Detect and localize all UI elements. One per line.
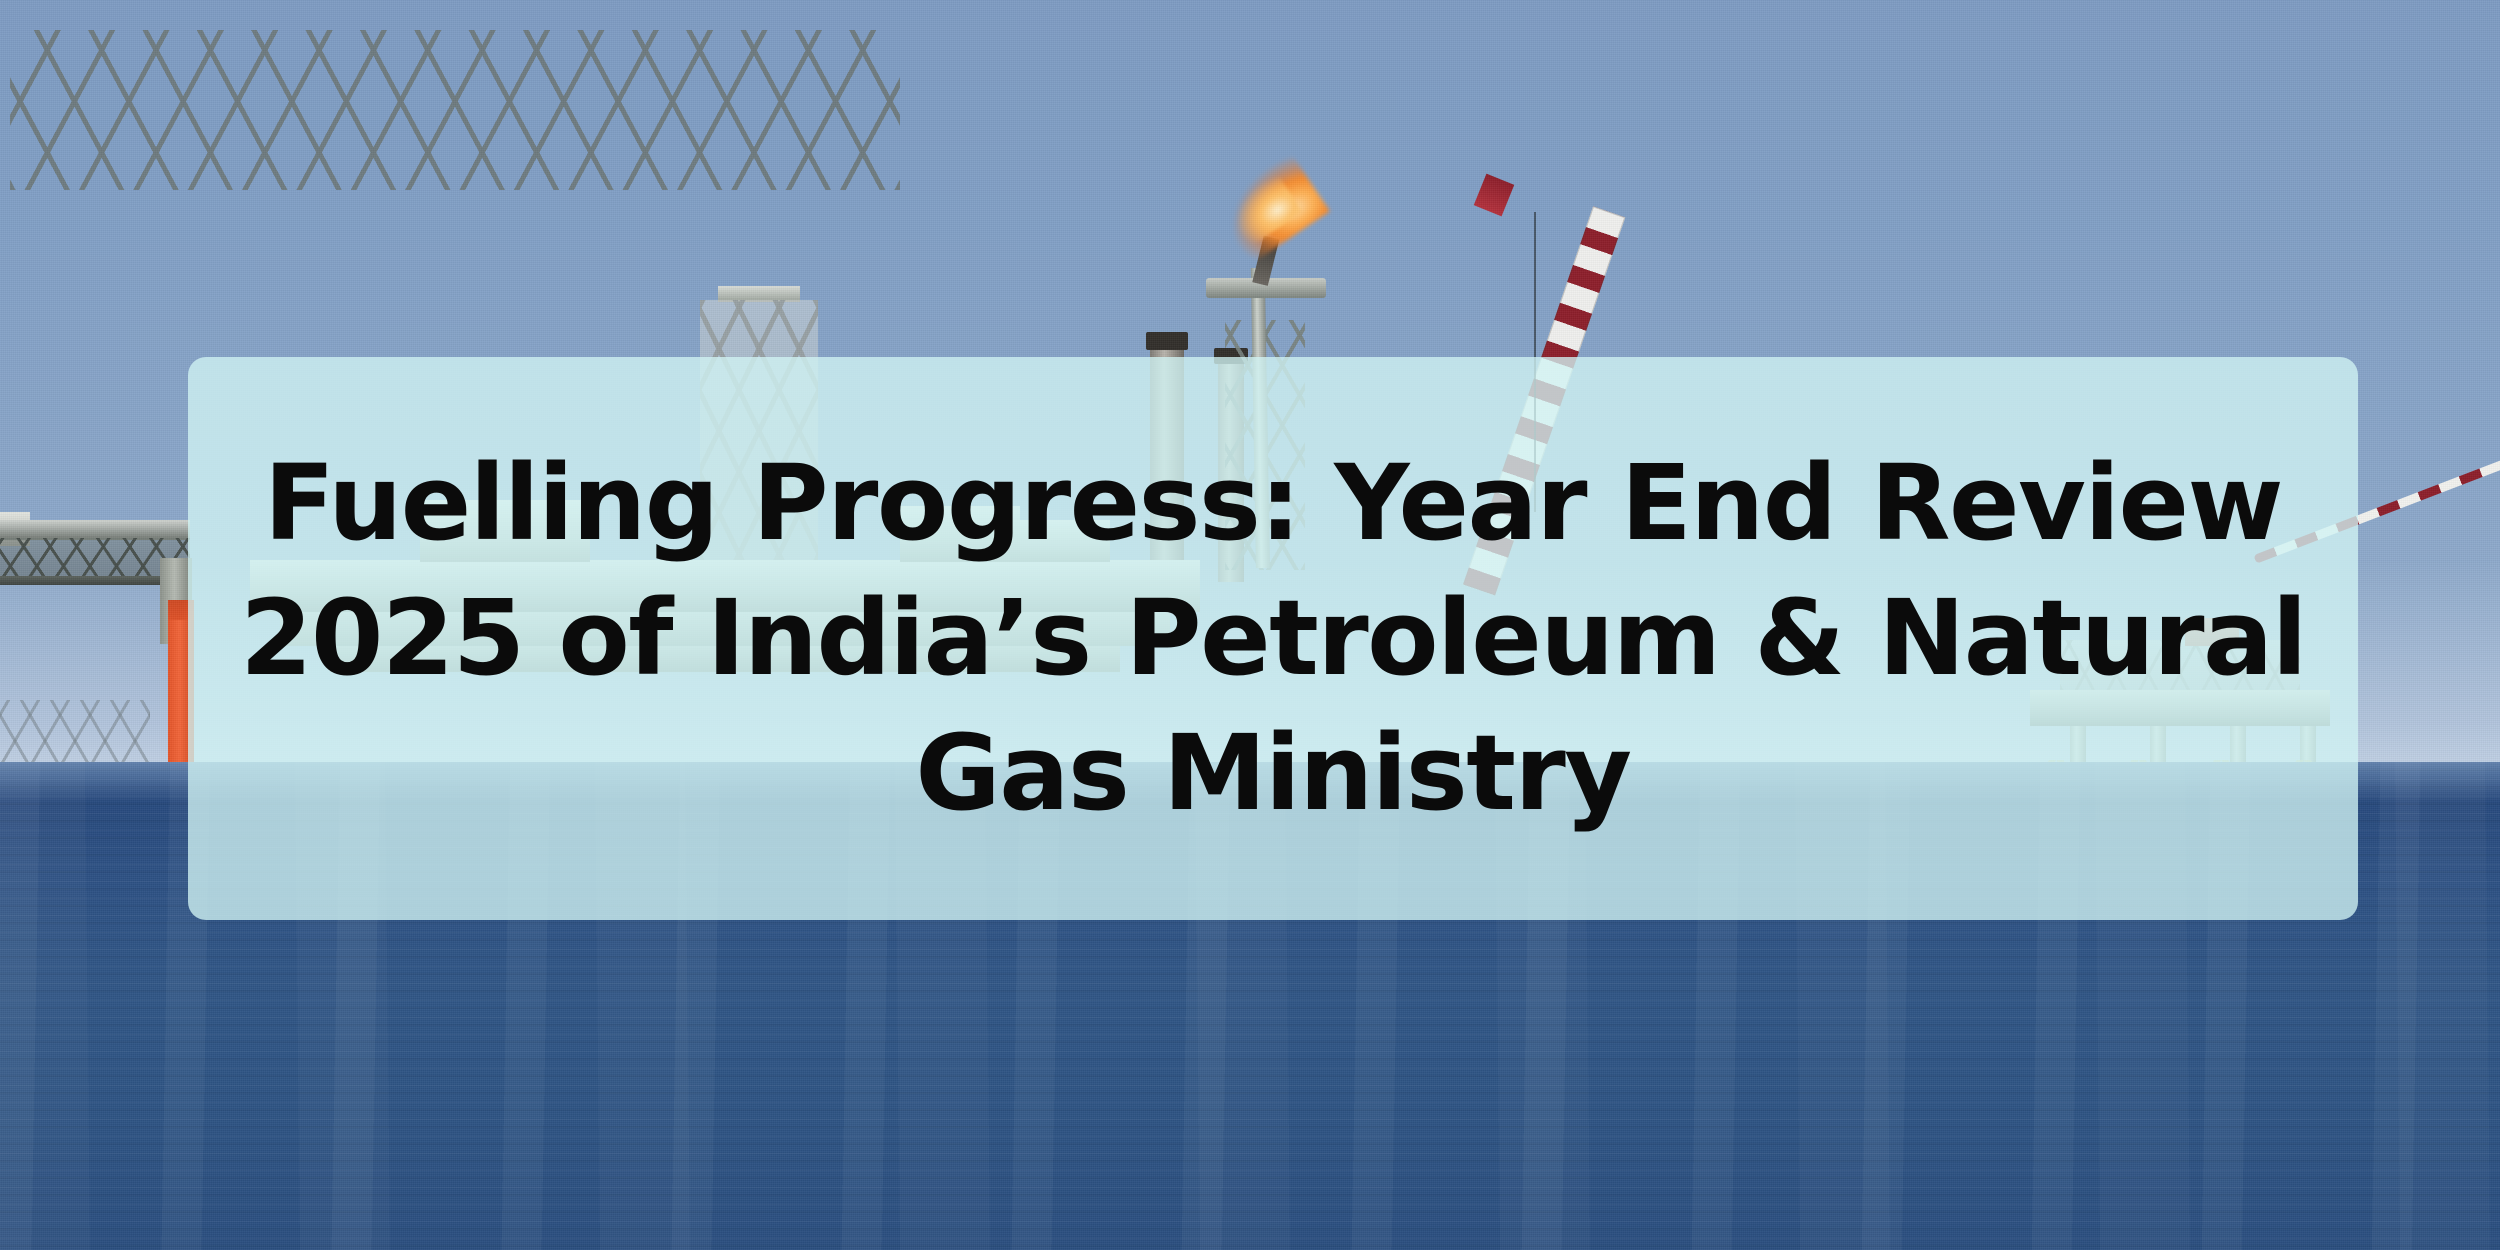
stack-left-cap [1146, 332, 1188, 350]
page-title: Fuelling Progress: Year End Review 2025 … [240, 436, 2306, 842]
bridge-deck [0, 520, 190, 540]
distant-platform [0, 700, 150, 770]
title-line-2: 2025 of India’s Petroleum & Natural [240, 577, 2306, 699]
title-line-1: Fuelling Progress: Year End Review [264, 442, 2282, 564]
title-overlay-card: Fuelling Progress: Year End Review 2025 … [188, 357, 2358, 920]
banner: Fuelling Progress: Year End Review 2025 … [0, 0, 2500, 1250]
jacket-bracing [10, 30, 900, 190]
title-line-3: Gas Ministry [915, 712, 1630, 834]
